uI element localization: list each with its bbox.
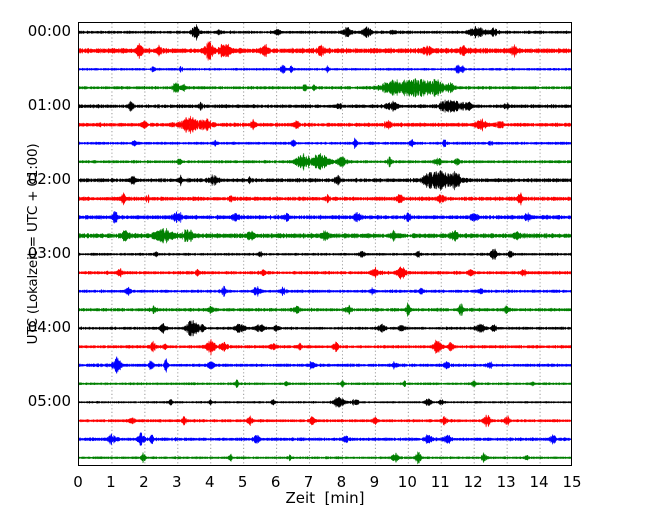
trace-0445 bbox=[79, 380, 572, 388]
trace-0115 bbox=[79, 116, 572, 134]
trace-0145 bbox=[79, 153, 572, 170]
trace-0415 bbox=[79, 339, 572, 355]
trace-0245 bbox=[79, 228, 572, 243]
trace-0130 bbox=[79, 138, 572, 149]
trace-0545 bbox=[79, 452, 572, 464]
trace-0515 bbox=[79, 415, 572, 427]
trace-0200 bbox=[79, 170, 572, 190]
plot-area bbox=[78, 22, 572, 466]
trace-0230 bbox=[79, 211, 572, 223]
trace-0100 bbox=[79, 100, 572, 113]
trace-0500 bbox=[79, 397, 572, 407]
trace-0345 bbox=[79, 303, 572, 317]
seismogram-figure: UTC (Lokalzeit = UTC + 01:00) 00:0001:00… bbox=[0, 0, 650, 520]
trace-0030 bbox=[79, 65, 572, 73]
trace-0400 bbox=[79, 320, 572, 336]
waveform-canvas bbox=[79, 23, 572, 466]
y-axis-label: UTC (Lokalzeit = UTC + 01:00) bbox=[22, 22, 44, 466]
trace-0330 bbox=[79, 286, 572, 296]
seismic-traces bbox=[79, 24, 572, 464]
trace-0015 bbox=[79, 42, 572, 61]
trace-0430 bbox=[79, 357, 572, 374]
trace-0215 bbox=[79, 193, 572, 205]
trace-0045 bbox=[79, 79, 572, 97]
x-axis-label: Zeit [min] bbox=[78, 489, 572, 507]
trace-0300 bbox=[79, 249, 572, 260]
trace-0000 bbox=[79, 24, 572, 40]
trace-0315 bbox=[79, 267, 572, 280]
trace-0530 bbox=[79, 433, 572, 446]
